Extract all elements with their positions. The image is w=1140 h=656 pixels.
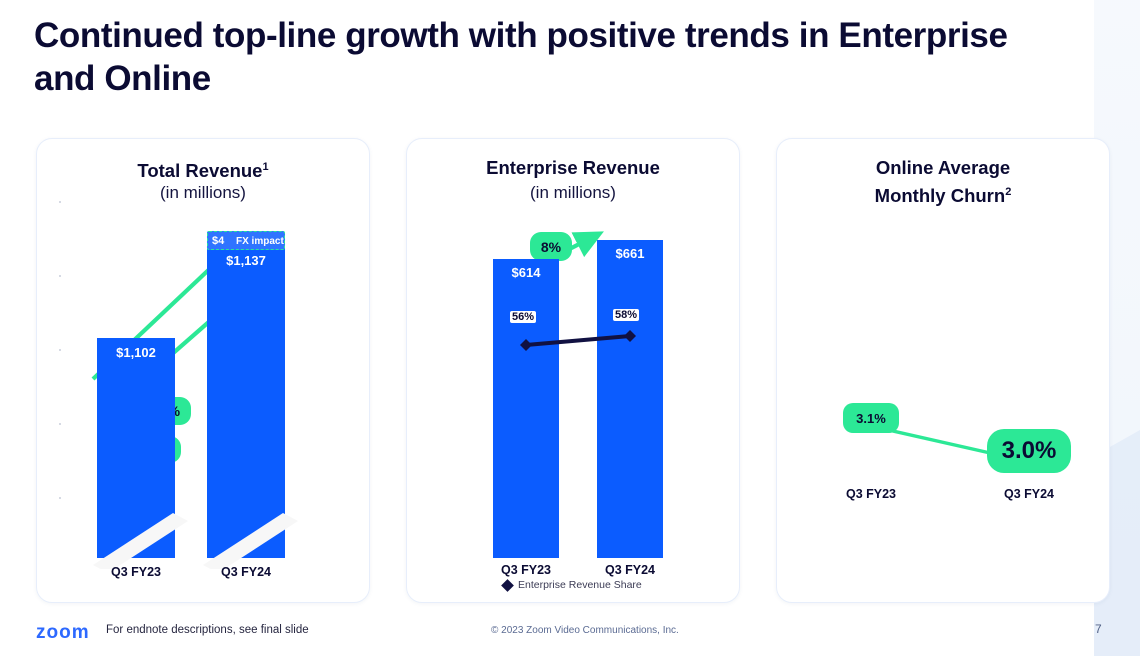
growth-pill-8pct: 8% — [530, 232, 572, 261]
plot-area-total-revenue: 4% 3% $1,102 $4 FX impact $1,137 Q3 FY23… — [37, 139, 369, 602]
zoom-logo: zoom — [36, 622, 90, 644]
bar-enterprise-revenue-q3fy23 — [493, 259, 559, 558]
churn-value-pill-q3fy23: 3.1% — [843, 403, 899, 433]
plot-area-enterprise-revenue: 8% $614 $661 56% 58% Q3 FY23 Q3 FY24 Ent… — [407, 139, 739, 602]
copyright-text: © 2023 Zoom Video Communications, Inc. — [491, 625, 679, 636]
page-number: 7 — [1095, 622, 1102, 636]
share-value-q3fy24: 58% — [613, 309, 639, 321]
diamond-icon — [501, 579, 514, 592]
axis-tick-dot — [59, 275, 61, 277]
share-value-q3fy23: 56% — [510, 311, 536, 323]
chart-card-total-revenue: Total Revenue1 (in millions) — [36, 138, 370, 603]
legend-enterprise-revenue-share: Enterprise Revenue Share — [503, 579, 642, 591]
slide-root: Continued top-line growth with positive … — [0, 0, 1140, 656]
chart-card-online-churn: Online Average Monthly Churn2 3.1% 3.0% … — [776, 138, 1110, 603]
plot-area-online-churn: 3.1% 3.0% Q3 FY23 Q3 FY24 — [777, 139, 1109, 602]
bar-value-total-revenue-q3fy23: $1,102 — [97, 345, 175, 360]
category-label-q3fy24: Q3 FY24 — [987, 487, 1071, 501]
axis-tick-dot — [59, 349, 61, 351]
chart-card-enterprise-revenue: Enterprise Revenue (in millions) 8% $614… — [406, 138, 740, 603]
fx-impact-value: $4 — [212, 235, 224, 247]
footnote-text: For endnote descriptions, see final slid… — [106, 624, 309, 636]
axis-tick-dot — [59, 423, 61, 425]
axis-break-mark — [93, 513, 188, 569]
category-label-q3fy23: Q3 FY23 — [829, 487, 913, 501]
category-label-q3fy24: Q3 FY24 — [207, 565, 285, 579]
category-label-q3fy24: Q3 FY24 — [597, 563, 663, 577]
bar-value-enterprise-revenue-q3fy23: $614 — [493, 265, 559, 280]
axis-tick-dot — [59, 497, 61, 499]
fx-impact-label: FX impact — [236, 236, 284, 247]
share-marker-q3fy23 — [520, 339, 532, 351]
bar-enterprise-revenue-q3fy24 — [597, 240, 663, 558]
category-label-q3fy23: Q3 FY23 — [493, 563, 559, 577]
bar-value-enterprise-revenue-q3fy24: $661 — [597, 246, 663, 261]
enterprise-share-line — [487, 319, 677, 359]
axis-tick-dot — [59, 201, 61, 203]
share-marker-q3fy24 — [624, 330, 636, 342]
axis-break-mark — [203, 513, 298, 569]
page-title: Continued top-line growth with positive … — [34, 14, 1034, 100]
axis-break-marks — [75, 469, 355, 569]
category-label-q3fy23: Q3 FY23 — [97, 565, 175, 579]
legend-label: Enterprise Revenue Share — [518, 579, 642, 591]
churn-value-pill-q3fy24: 3.0% — [987, 429, 1071, 473]
bar-value-total-revenue-q3fy24: $1,137 — [207, 253, 285, 268]
